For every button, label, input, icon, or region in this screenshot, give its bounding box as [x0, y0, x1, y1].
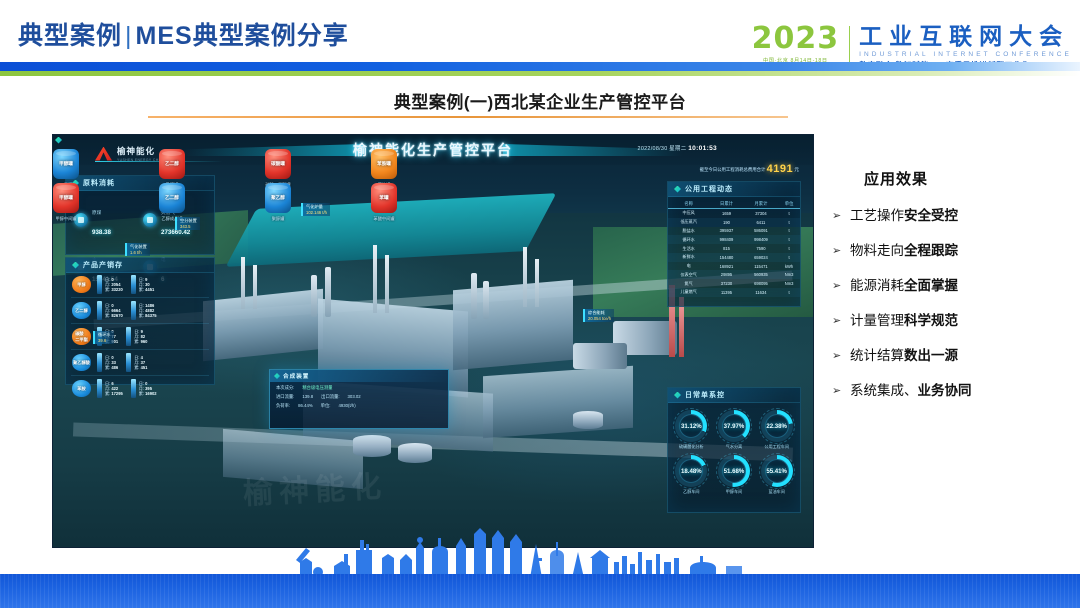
gauge-label: 甲醇车间	[714, 489, 755, 495]
effect-text: 系统集成、业务协同	[850, 383, 972, 399]
tooltip-row-label: 出口流量:	[321, 394, 339, 400]
page-title-main: 典型案例	[18, 22, 122, 50]
gauge-value: 22.38%	[766, 423, 787, 430]
row-divider	[71, 297, 209, 298]
table-cell: Nm3	[778, 270, 800, 279]
table-row: 电168921115471kWh	[668, 262, 800, 271]
tank-icon: 碳酸罐	[265, 149, 291, 179]
map-label-value: 1.6 t/h	[130, 250, 142, 255]
skyline-illustration	[0, 528, 1080, 578]
gauge-value: 37.97%	[724, 423, 745, 430]
product-bar	[126, 353, 131, 372]
map-label-text: 气化炉量	[306, 204, 323, 209]
tank-icon: 苯罐	[371, 183, 397, 213]
clock-time: 10:01:53	[688, 145, 717, 152]
table-cell: 低压蒸汽	[668, 218, 709, 227]
table-cell: t	[778, 253, 800, 262]
effect-prefix: 统计结算	[850, 348, 904, 363]
product-bar	[97, 379, 102, 398]
product-bar	[97, 275, 102, 294]
product-kv: 累: 4451	[139, 287, 154, 292]
tank-icon: 甲醇罐	[53, 183, 79, 213]
page-title-separator: |	[122, 22, 136, 50]
effect-text: 能源消耗全面掌握	[850, 278, 958, 294]
utility-total-unit: 元	[794, 167, 799, 172]
gauge-ring: 37.97%	[718, 410, 750, 442]
dashboard-clock: 2022/08/30 星期二 10:01:53	[638, 144, 717, 152]
product-kv: 累: 82670	[105, 313, 123, 318]
gauge-value: 18.48%	[681, 468, 702, 475]
effects-title: 应用效果	[864, 168, 1072, 189]
slide-header: 典型案例|MES典型案例分享 2023 中国·北京 8月14日-18日 工业互联…	[0, 0, 1080, 72]
table-row: 循环水998409998409t	[668, 235, 800, 244]
tooltip-row-label: 单位:	[321, 403, 331, 409]
table-cell: 生活水	[668, 244, 709, 253]
product-bar	[131, 275, 136, 294]
table-cell: 815	[709, 244, 743, 253]
table-cell: t	[778, 227, 800, 236]
arrow-bullet-icon: ➢	[832, 313, 842, 329]
tooltip-row-value: 139.8	[302, 394, 313, 400]
diamond-icon	[674, 186, 681, 193]
map-label[interactable]: 空分装置343.5	[175, 217, 200, 230]
table-cell: 37230	[709, 279, 743, 288]
effect-highlight: 全面掌握	[904, 278, 958, 293]
row-divider	[71, 323, 209, 324]
panel-title: 日常单系控	[685, 390, 725, 400]
map-label-value: 343.5	[180, 224, 190, 229]
table-header-row: 名称日累计月累计单位	[668, 199, 800, 209]
logo-name-en: INDUSTRIAL INTERNET CONFERENCE	[859, 51, 1072, 58]
table-cell: t	[778, 209, 800, 218]
tooltip-row-value: 86.44%	[298, 403, 313, 409]
table-column-header: 月累计	[744, 199, 778, 209]
panel-product-inventory: 产品产销存 甲醇日: 0月: 2054累: 33220日: 9月: 30累: 4…	[65, 257, 215, 385]
table-cell: 6411	[744, 218, 778, 227]
panel-header: 产品产销存	[66, 258, 214, 273]
effect-highlight: 安全受控	[904, 208, 958, 223]
gauge-label: 乙醇车间	[671, 489, 712, 495]
table-cell: 998409	[709, 235, 743, 244]
section-underline	[148, 116, 788, 118]
product-row: 苯胺日: 6月: 422累: 17295日: 0月: 395累: 16902	[66, 377, 214, 400]
table-body: 中压风165937304t低压蒸汽1906411t脱盐水395937586091…	[668, 209, 800, 297]
row-divider	[71, 375, 209, 376]
table-cell: 新鲜水	[668, 253, 709, 262]
table-cell: 659024	[744, 253, 778, 262]
table-column-header: 日累计	[709, 199, 743, 209]
panel-gauges: 日常单系控 31.12%硫磺酸化分析37.97%气水分离22.38%公用工程车间…	[667, 387, 801, 513]
logo-year-block: 2023 中国·北京 8月14日-18日	[752, 24, 850, 64]
header-rule-green	[0, 71, 1080, 76]
tank-name: 聚醇罐	[272, 216, 285, 222]
table-row: 生活水8157590t	[668, 244, 800, 253]
product-kv: 累: 84375	[139, 313, 157, 318]
gauge-ring: 55.41%	[761, 455, 793, 487]
effect-prefix: 计量管理	[850, 313, 904, 328]
map-label[interactable]: 循环水39.6	[93, 331, 114, 344]
tooltip-row-label: 负荷率:	[276, 403, 290, 409]
table-cell: 11395	[709, 288, 743, 297]
product-row: 乙二醇日: 0月: 6664累: 82670日: 1486月: 4882累: 8…	[66, 299, 214, 322]
clock-date: 2022/08/30 星期二	[638, 146, 687, 152]
gauge-label: 公用工程车间	[756, 444, 797, 450]
tooltip-row-value: 4930(t/h)	[338, 403, 355, 409]
table-cell: 循环水	[668, 235, 709, 244]
utility-total-value: 4191	[767, 163, 793, 175]
tooltip-row-value: 303.02	[348, 394, 361, 400]
map-label-value: 20.054 tce/h	[588, 316, 611, 321]
panel-title: 公用工程动态	[685, 184, 733, 194]
gas-icon	[143, 213, 157, 227]
effect-item: ➢能源消耗全面掌握	[832, 278, 1072, 294]
tank-icon: 甲醇罐	[53, 149, 79, 179]
table-row: 新鲜水154480659024t	[668, 253, 800, 262]
table-cell: 190	[709, 218, 743, 227]
gauge: 37.97%气水分离	[714, 410, 755, 450]
gauge-value: 31.12%	[681, 423, 702, 430]
page-title-sub: MES典型案例分享	[136, 22, 349, 50]
utilities-table: 名称日累计月累计单位 中压风165937304t低压蒸汽1906411t脱盐水3…	[668, 199, 800, 297]
product-ball-icon: 聚乙醇酸	[72, 354, 91, 371]
table-cell: 11634	[744, 288, 778, 297]
arrow-bullet-icon: ➢	[832, 278, 842, 294]
table-cell: 37304	[744, 209, 778, 218]
tooltip-row: 负荷率: 86.44% 单位: 4930(t/h)	[270, 400, 448, 409]
product-bar	[97, 353, 102, 372]
utility-total-cost: 截至今日公用工程消耗总费用合计 4191 元	[700, 163, 799, 175]
table-cell: 儿童燃气	[668, 288, 709, 297]
table-row: 中压风165937304t	[668, 209, 800, 218]
gauge-ring: 18.48%	[675, 455, 707, 487]
table-cell: 698095	[744, 279, 778, 288]
table-cell: 29895	[709, 270, 743, 279]
product-bar	[131, 379, 136, 398]
table-cell: 560935	[744, 270, 778, 279]
tank-name: 苯酸中间罐	[374, 216, 395, 222]
tooltip-row: 进口流量: 139.8 出口流量: 303.02	[270, 391, 448, 400]
table-cell: 氮气	[668, 279, 709, 288]
gauge: 22.38%公用工程车间	[756, 410, 797, 450]
application-effects: 应用效果 ➢工艺操作安全受控➢物料走向全程跟踪➢能源消耗全面掌握➢计量管理科学规…	[832, 168, 1072, 399]
logo-divider	[849, 26, 850, 66]
panel-title: 原料消耗	[83, 178, 115, 188]
table-column-header: 名称	[668, 199, 709, 209]
arrow-bullet-icon: ➢	[832, 348, 842, 364]
gauge-ring: 22.38%	[761, 410, 793, 442]
table-cell: 154480	[709, 253, 743, 262]
tooltip-row: 本次成分: 精台级电压测量	[270, 382, 448, 391]
effect-text: 计量管理科学规范	[850, 313, 958, 329]
product-ball-icon: 乙二醇	[72, 302, 91, 319]
table-row: 儿童燃气1139511634t	[668, 288, 800, 297]
table-cell: kWh	[778, 262, 800, 271]
table-cell: Nm3	[778, 279, 800, 288]
table-cell: 395937	[709, 227, 743, 236]
gauge-label: 硫磺酸化分析	[671, 444, 712, 450]
map-label-text: 气化装置	[130, 244, 147, 249]
gauge: 18.48%乙醇车间	[671, 455, 712, 495]
gauge-value: 51.68%	[724, 468, 745, 475]
effects-list: ➢工艺操作安全受控➢物料走向全程跟踪➢能源消耗全面掌握➢计量管理科学规范➢统计结…	[832, 208, 1072, 399]
product-kv: 累: 17295	[105, 391, 123, 396]
diamond-icon	[72, 262, 79, 269]
table-row: 氮气37230698095Nm3	[668, 279, 800, 288]
product-row: 聚乙醇酸日: 0月: 33累: 486日: 4月: 37累: 451	[66, 351, 214, 374]
product-bar	[97, 301, 102, 320]
table-cell: 脱盐水	[668, 227, 709, 236]
product-list: 甲醇日: 0月: 2054累: 33220日: 9月: 30累: 4451乙二醇…	[66, 273, 214, 400]
table-cell: 仪表空气	[668, 270, 709, 279]
gauge-label: 蓝油车间	[756, 489, 797, 495]
product-kv: 累: 33220	[105, 287, 123, 292]
arrow-bullet-icon: ➢	[832, 383, 842, 399]
table-row: 仪表空气29895560935Nm3	[668, 270, 800, 279]
effect-text: 统计结算数出一源	[850, 348, 958, 364]
gauge-grid: 31.12%硫磺酸化分析37.97%气水分离22.38%公用工程车间18.48%…	[668, 403, 800, 495]
effect-prefix: 物料走向	[850, 243, 904, 258]
map-label-text: 空分装置	[180, 218, 197, 223]
product-kv: 累: 960	[134, 339, 147, 344]
tooltip-row-value: 精台级电压测量	[302, 385, 332, 391]
tank-icon: 聚乙醇	[265, 183, 291, 213]
table-cell: 586091	[744, 227, 778, 236]
effect-prefix: 能源消耗	[850, 278, 904, 293]
effect-item: ➢系统集成、业务协同	[832, 383, 1072, 399]
tooltip-title: 合成装置	[283, 372, 309, 380]
table-cell: 168921	[709, 262, 743, 271]
effect-text: 工艺操作安全受控	[850, 208, 958, 224]
table-cell: 998409	[744, 235, 778, 244]
effect-highlight: 科学规范	[904, 313, 958, 328]
effect-text: 物料走向全程跟踪	[850, 243, 958, 259]
map-label-text: 综合能耗	[588, 310, 605, 315]
product-row: 甲醇日: 0月: 2054累: 33220日: 9月: 30累: 4451	[66, 273, 214, 296]
product-kv: 累: 451	[134, 365, 147, 370]
product-row: 碳酸二甲酯日: 0月: 77累: 901日: 9月: 82累: 960	[66, 325, 214, 348]
gauge-ring: 31.12%	[675, 410, 707, 442]
map-label[interactable]: 气化炉量102.146 t/h	[301, 203, 330, 216]
product-ball-icon: 碳酸二甲酯	[72, 328, 91, 345]
product-bar	[126, 327, 131, 346]
panel-header: 原料消耗	[66, 176, 214, 191]
header-rule-blue	[0, 62, 1080, 71]
material-item: 原煤938.38	[74, 200, 139, 240]
table-cell: 115471	[744, 262, 778, 271]
utility-total-label: 截至今日公用工程消耗总费用合计	[700, 167, 766, 172]
gauge: 31.12%硫磺酸化分析	[671, 410, 712, 450]
panel-utilities: 公用工程动态 名称日累计月累计单位 中压风165937304t低压蒸汽19064…	[667, 181, 801, 307]
table-cell: t	[778, 235, 800, 244]
tooltip-row-label: 本次成分:	[276, 385, 294, 391]
tank-icon: 乙二醇	[159, 149, 185, 179]
material-name: 原煤	[92, 210, 101, 215]
page-title: 典型案例|MES典型案例分享	[18, 16, 349, 52]
table-cell: 7590	[744, 244, 778, 253]
product-bar	[131, 301, 136, 320]
tooltip-header: 合成装置	[270, 370, 448, 382]
effect-highlight: 全程跟踪	[904, 243, 958, 258]
dashboard-screenshot: 榆神能化 榆神能化生产管控平台 榆神能化 YUSHEN ENERGY CHEMI…	[52, 134, 814, 548]
panel-header: 公用工程动态	[668, 182, 800, 197]
table-cell: 1659	[709, 209, 743, 218]
map-label[interactable]: 气化装置1.6 t/h	[125, 243, 150, 256]
diamond-icon	[274, 373, 280, 379]
mountain-logo-icon	[95, 147, 112, 161]
table-row: 脱盐水395937586091t	[668, 227, 800, 236]
gauge: 55.41%蓝油车间	[756, 455, 797, 495]
logo-year: 2023	[752, 24, 840, 54]
gauge-label: 气水分离	[714, 444, 755, 450]
map-label[interactable]: 综合能耗20.054 tce/h	[583, 309, 614, 322]
effect-prefix: 工艺操作	[850, 208, 904, 223]
gauge-ring: 51.68%	[718, 455, 750, 487]
effect-highlight: 数出一源	[904, 348, 958, 363]
effect-item: ➢工艺操作安全受控	[832, 208, 1072, 224]
material-value: 273660.42	[161, 229, 190, 236]
footer-band	[0, 574, 1080, 608]
table-row: 低压蒸汽1906411t	[668, 218, 800, 227]
tank-icon: 苯胺罐	[371, 149, 397, 179]
product-kv: 累: 16902	[139, 391, 157, 396]
table-cell: t	[778, 218, 800, 227]
panel-header: 日常单系控	[668, 388, 800, 403]
map-label-text: 循环水	[98, 332, 111, 337]
table-column-header: 单位	[778, 199, 800, 209]
table-cell: 中压风	[668, 209, 709, 218]
gauge-value: 55.41%	[766, 468, 787, 475]
logo-name-cn: 工业互联网大会	[859, 24, 1072, 49]
effect-item: ➢物料走向全程跟踪	[832, 243, 1072, 259]
equipment-detail-tooltip: 合成装置 本次成分: 精台级电压测量 进口流量: 139.8 出口流量: 303…	[269, 369, 449, 429]
map-label-value: 39.6	[98, 338, 106, 343]
material-value: 938.38	[92, 229, 111, 236]
gauge: 51.68%甲醇车间	[714, 455, 755, 495]
map-label-value: 102.146 t/h	[306, 210, 327, 215]
tank-icon: 乙二醇	[159, 183, 185, 213]
product-ball-icon: 甲醇	[72, 276, 91, 293]
table-cell: t	[778, 244, 800, 253]
effect-item: ➢计量管理科学规范	[832, 313, 1072, 329]
row-divider	[71, 349, 209, 350]
tooltip-row-label: 进口流量:	[276, 394, 294, 400]
effect-highlight: 业务协同	[918, 383, 972, 398]
tank-name: 甲醇中间罐	[56, 216, 77, 222]
effect-prefix: 系统集成、	[850, 383, 918, 398]
panel-title: 产品产销存	[83, 260, 123, 270]
diamond-icon	[674, 392, 681, 399]
arrow-bullet-icon: ➢	[832, 243, 842, 259]
table-cell: t	[778, 288, 800, 297]
table-cell: 电	[668, 262, 709, 271]
product-kv: 累: 486	[105, 365, 118, 370]
section-title: 典型案例(一)西北某企业生产管控平台	[0, 88, 1080, 113]
effect-item: ➢统计结算数出一源	[832, 348, 1072, 364]
product-ball-icon: 苯胺	[72, 380, 91, 397]
arrow-bullet-icon: ➢	[832, 208, 842, 224]
